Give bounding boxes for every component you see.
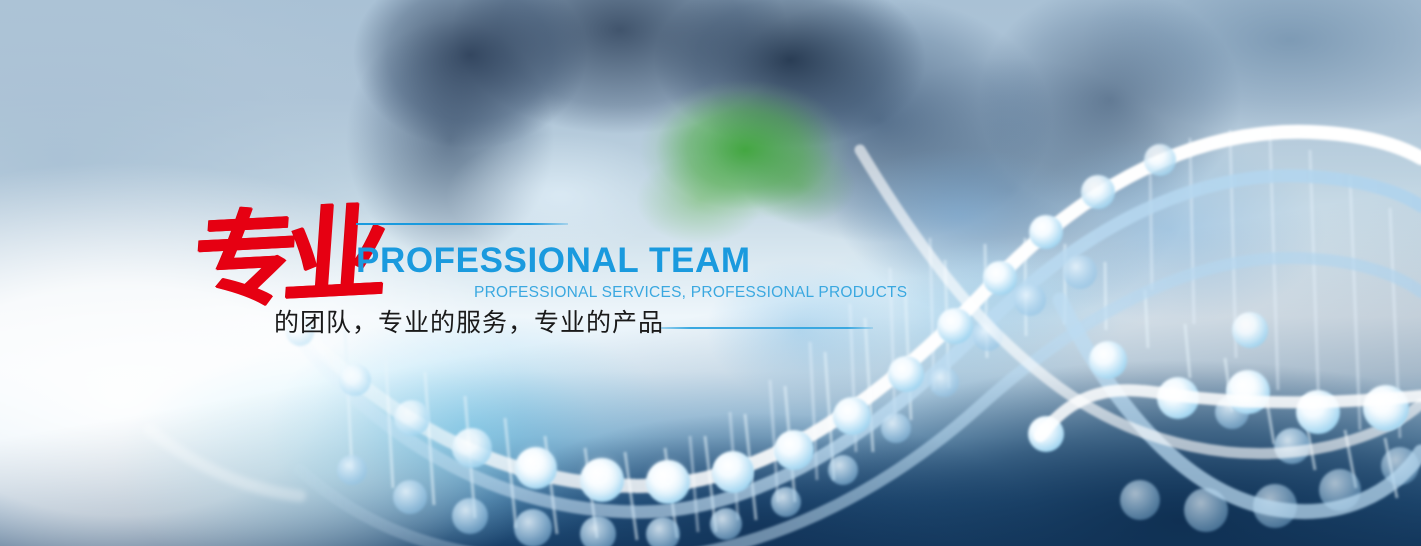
page-subtitle: PROFESSIONAL SERVICES, PROFESSIONAL PROD…	[474, 285, 907, 301]
hero-banner: 专业 PROFESSIONAL TEAM PROFESSIONAL SERVIC…	[0, 0, 1421, 546]
page-title: PROFESSIONAL TEAM	[356, 243, 751, 278]
banner-text-block: 专业 PROFESSIONAL TEAM PROFESSIONAL SERVIC…	[0, 0, 1421, 546]
divider-line-top	[356, 223, 568, 225]
divider-line-bottom	[661, 327, 873, 329]
chinese-tagline: 的团队，专业的服务，专业的产品	[274, 307, 664, 338]
